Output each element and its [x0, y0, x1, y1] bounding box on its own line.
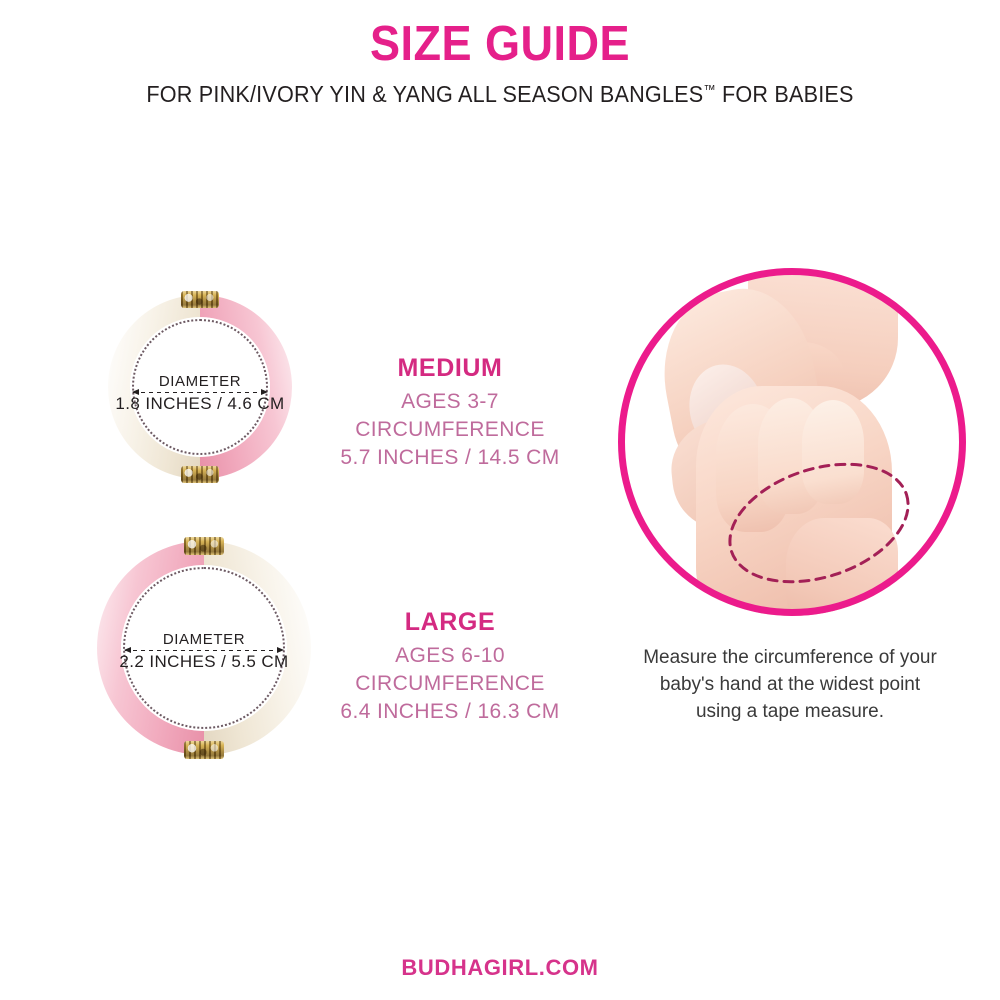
- trademark-icon: ™: [703, 82, 715, 97]
- size-circumference-label-medium: CIRCUMFERENCE: [285, 416, 615, 444]
- baby-finger-3: [802, 400, 864, 504]
- size-ages-large: AGES 6-10: [285, 642, 615, 670]
- bangle-large: DIAMETER 2.2 INCHES / 5.5 CM: [97, 541, 311, 755]
- bangle-medium-dotted-guide: [132, 319, 268, 455]
- header: SIZE GUIDE FOR PINK/IVORY YIN & YANG ALL…: [0, 0, 1000, 108]
- size-ages-medium: AGES 3-7: [285, 388, 615, 416]
- measure-instruction: Measure the circumference of your baby's…: [640, 645, 940, 726]
- subtitle-text-suffix: FOR BABIES: [716, 81, 854, 107]
- bangle-large-ring: DIAMETER 2.2 INCHES / 5.5 CM: [97, 541, 311, 755]
- page-subtitle: FOR PINK/IVORY YIN & YANG ALL SEASON BAN…: [30, 72, 970, 108]
- footer-website: BUDHAGIRL.COM: [0, 955, 1000, 981]
- measurement-photo: [618, 268, 966, 616]
- size-info-medium: MEDIUM AGES 3-7 CIRCUMFERENCE 5.7 INCHES…: [285, 352, 615, 472]
- gold-spacer-texture: [181, 291, 219, 308]
- gold-spacer-texture: [184, 537, 224, 555]
- size-name-large: LARGE: [285, 606, 615, 640]
- bangle-large-dotted-guide: [123, 567, 285, 729]
- size-name-medium: MEDIUM: [285, 352, 615, 386]
- gold-spacer-icon-top: [181, 291, 219, 308]
- gold-spacer-icon-bottom: [184, 741, 224, 759]
- size-circumference-value-medium: 5.7 INCHES / 14.5 CM: [285, 444, 615, 472]
- measurement-photo-image: [618, 268, 966, 616]
- bangle-medium-ring: DIAMETER 1.8 INCHES / 4.6 CM: [108, 295, 292, 479]
- size-circumference-label-large: CIRCUMFERENCE: [285, 670, 615, 698]
- size-info-large: LARGE AGES 6-10 CIRCUMFERENCE 6.4 INCHES…: [285, 606, 615, 726]
- bangle-medium: DIAMETER 1.8 INCHES / 4.6 CM: [108, 295, 292, 479]
- gold-spacer-icon-bottom: [181, 466, 219, 483]
- subtitle-text: FOR PINK/IVORY YIN & YANG ALL SEASON BAN…: [146, 81, 703, 107]
- size-circumference-value-large: 6.4 INCHES / 16.3 CM: [285, 698, 615, 726]
- baby-wrist: [786, 518, 898, 616]
- gold-spacer-texture: [181, 466, 219, 483]
- gold-spacer-texture: [184, 741, 224, 759]
- page-title: SIZE GUIDE: [40, 0, 960, 72]
- gold-spacer-icon-top: [184, 537, 224, 555]
